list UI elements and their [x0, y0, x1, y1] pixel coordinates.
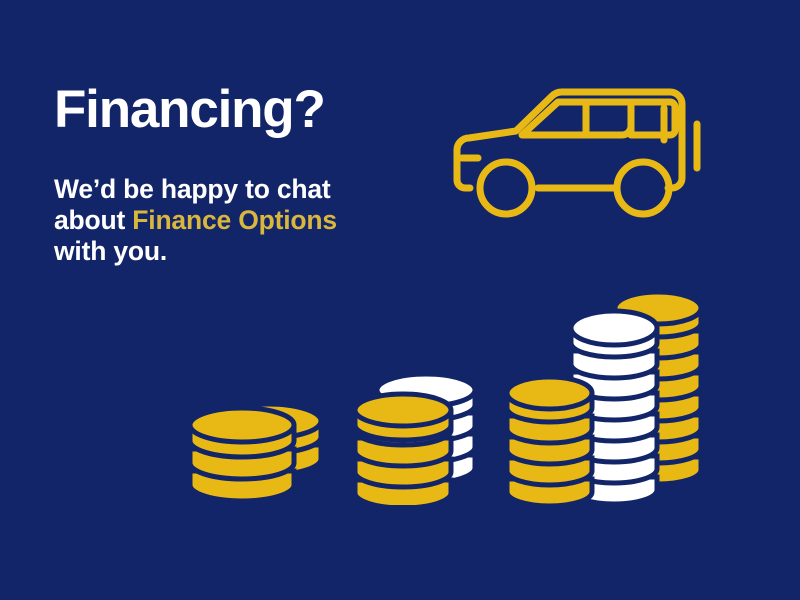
coin-stack-small-svg [185, 385, 325, 505]
subcopy-line-1: We’d be happy to chat [54, 174, 394, 205]
coin-stack-small [185, 385, 325, 505]
finance-options-accent: Finance Options [132, 205, 337, 235]
suv-line-icon [446, 78, 726, 228]
coin-stack-large-svg [503, 272, 708, 505]
car-front-wheel [480, 162, 532, 214]
coin-stack-medium [352, 352, 482, 505]
car-body-outline [457, 92, 682, 188]
suv-icon-svg [446, 78, 726, 228]
subcopy-line-2-prefix: about [54, 205, 132, 235]
coin-substack-front [190, 408, 294, 501]
subcopy: We’d be happy to chat about Finance Opti… [54, 174, 394, 268]
page-title: Financing? [54, 82, 394, 138]
coin-substack-front [355, 394, 451, 505]
coin-stack-medium-svg [352, 352, 482, 505]
car-rear-wheel [617, 162, 669, 214]
financing-slide: Financing? We’d be happy to chat about F… [0, 0, 800, 600]
text-block: Financing? We’d be happy to chat about F… [54, 82, 394, 267]
coin-substack-front [507, 377, 592, 505]
car-window-rear [631, 102, 675, 135]
subcopy-line-2: about Finance Options [54, 205, 394, 236]
coin-stack-large [503, 272, 708, 505]
subcopy-line-3: with you. [54, 236, 394, 267]
